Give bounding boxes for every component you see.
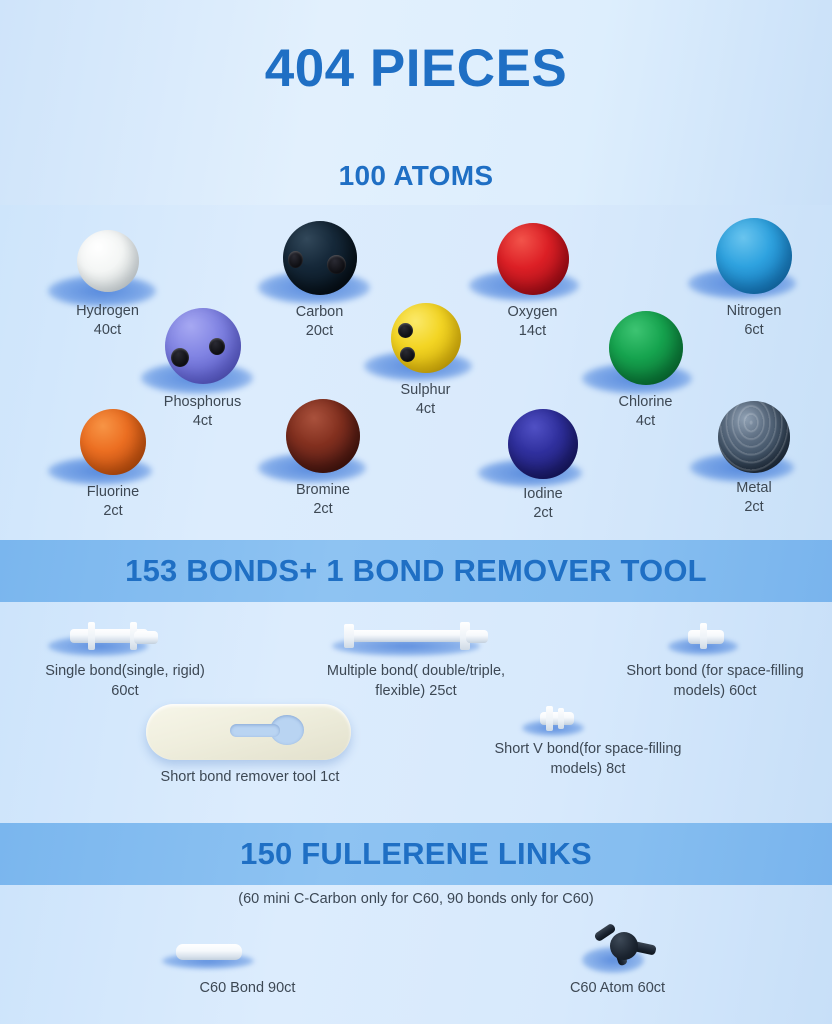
atom-count: 4ct [401,400,451,419]
metal-swirl-texture [718,401,790,473]
atom-label-oxygen: Oxygen 14ct [508,303,558,341]
bond-label-multiple-bond: Multiple bond( double/triple, flexible) … [291,662,541,701]
bond-label-single-bond: Single bond(single, rigid) 60ct [10,662,240,701]
atom-sphere-oxygen [497,223,569,295]
single-bond-tip [134,631,158,644]
atom-name: Sulphur [401,381,451,400]
page-title: 404 PIECES [0,38,832,99]
atom-count: 2ct [296,500,350,519]
short-v-bond-fin [546,706,553,731]
atom-label-nitrogen: Nitrogen 6ct [727,302,782,340]
atom-sphere-chlorine [609,311,683,385]
bond-name-line2: models) 60ct [599,682,831,702]
fullerene-item-c60-atom: C60 Atom 60ct [520,917,715,1012]
atom-name: Hydrogen [76,302,139,321]
bond-name-line2: flexible) 25ct [291,682,541,702]
bond-item-single-bond: Single bond(single, rigid) 60ct [30,610,220,700]
atom-sphere-bromine [286,399,360,473]
multiple-bond-tip [466,630,488,643]
atom-name: Carbon [296,303,344,322]
atom-count: 20ct [296,322,344,341]
atom-sphere-phosphorus [165,308,241,384]
atom-label-metal: Metal 2ct [736,479,771,517]
bond-name: Short bond remover tool 1ct [120,768,380,788]
atom-count: 14ct [508,322,558,341]
bond-name: C60 Bond 90ct [140,979,355,999]
atom-sphere-nitrogen [716,218,792,294]
bonds-title-band: 153 BONDS+ 1 BOND REMOVER TOOL [0,540,832,602]
bond-count: 60ct [10,682,240,702]
bonds-content-band: Single bond(single, rigid) 60ct Multiple… [0,602,832,823]
atom-label-bromine: Bromine 2ct [296,481,350,519]
atom-hole [288,251,303,268]
atom-name: Iodine [523,485,563,504]
bond-item-bond-remover-tool: Short bond remover tool 1ct [130,700,370,795]
atom-label-hydrogen: Hydrogen 40ct [76,302,139,340]
multiple-bond-rod [346,630,478,642]
c60-bond-rod [176,944,242,960]
bond-label-c60-bond: C60 Bond 90ct [140,979,355,999]
bond-item-short-bond: Short bond (for space-filling models) 60… [640,610,790,700]
c60-atom-hub [610,932,638,960]
bond-name: Single bond(single, rigid) [10,662,240,682]
atom-name: Chlorine [619,393,673,412]
bond-label-c60-atom: C60 Atom 60ct [520,979,715,999]
bond-item-multiple-bond: Multiple bond( double/triple, flexible) … [318,610,514,700]
bond-label-short-bond: Short bond (for space-filling models) 60… [599,662,831,701]
atom-sphere-hydrogen [77,230,139,292]
atom-count: 2ct [87,502,139,521]
single-bond-fin [88,622,95,650]
atom-count: 2ct [736,498,771,517]
short-v-bond-fin [558,708,564,729]
multiple-bond-cap [344,624,354,648]
atom-count: 2ct [523,504,563,523]
fullerene-title-band: 150 FULLERENE LINKS [0,823,832,885]
atom-sphere-carbon [283,221,357,295]
bond-item-short-v-bond: Short V bond(for space-filling models) 8… [500,702,676,797]
atom-label-chlorine: Chlorine 4ct [619,393,673,431]
bond-remover-slot-channel [230,724,280,737]
atom-sphere-fluorine [80,409,146,475]
atom-label-carbon: Carbon 20ct [296,303,344,341]
atom-label-iodine: Iodine 2ct [523,485,563,523]
atom-count: 4ct [619,412,673,431]
atom-item-iodine: Iodine 2ct [478,403,608,533]
atoms-photo-band: Hydrogen 40ct Carbon 20ct Oxygen 14ct Ni… [0,205,832,540]
atom-hole [400,347,415,362]
bond-name: C60 Atom 60ct [520,979,715,999]
bonds-section-title: 153 BONDS+ 1 BOND REMOVER TOOL [0,540,832,602]
atom-hole [398,323,413,338]
bond-name: Short bond (for space-filling [599,662,831,682]
atom-count: 40ct [76,321,139,340]
atom-item-fluorine: Fluorine 2ct [48,403,178,531]
atom-name: Oxygen [508,303,558,322]
fullerene-content-band: (60 mini C-Carbon only for C60, 90 bonds… [0,885,832,1024]
atom-name: Bromine [296,481,350,500]
atom-sphere-iodine [508,409,578,479]
bond-label-short-v-bond: Short V bond(for space-filling models) 8… [468,740,708,779]
bond-label-bond-remover-tool: Short bond remover tool 1ct [120,768,380,788]
atom-hole [327,255,346,274]
short-bond-fin [700,623,707,649]
bond-name-line2: models) 8ct [468,760,708,780]
atom-name: Nitrogen [727,302,782,321]
atom-label-fluorine: Fluorine 2ct [87,483,139,521]
bond-name: Multiple bond( double/triple, [291,662,541,682]
fullerene-item-c60-bond: C60 Bond 90ct [140,933,355,1013]
atom-label-sulphur: Sulphur 4ct [401,381,451,419]
atom-count: 6ct [727,321,782,340]
atom-hole [209,338,225,355]
fullerene-section-title: 150 FULLERENE LINKS [0,823,832,885]
atom-item-metal: Metal 2ct [690,395,818,530]
atom-sphere-sulphur [391,303,461,373]
atom-item-bromine: Bromine 2ct [258,393,388,528]
atom-name: Fluorine [87,483,139,502]
atoms-section-title: 100 ATOMS [0,160,832,192]
fullerene-section-note: (60 mini C-Carbon only for C60, 90 bonds… [0,891,832,907]
bond-name: Short V bond(for space-filling [468,740,708,760]
bond-remover-body [146,704,351,760]
atom-hole [171,348,189,367]
atom-name: Metal [736,479,771,498]
atom-sphere-metal [718,401,790,473]
